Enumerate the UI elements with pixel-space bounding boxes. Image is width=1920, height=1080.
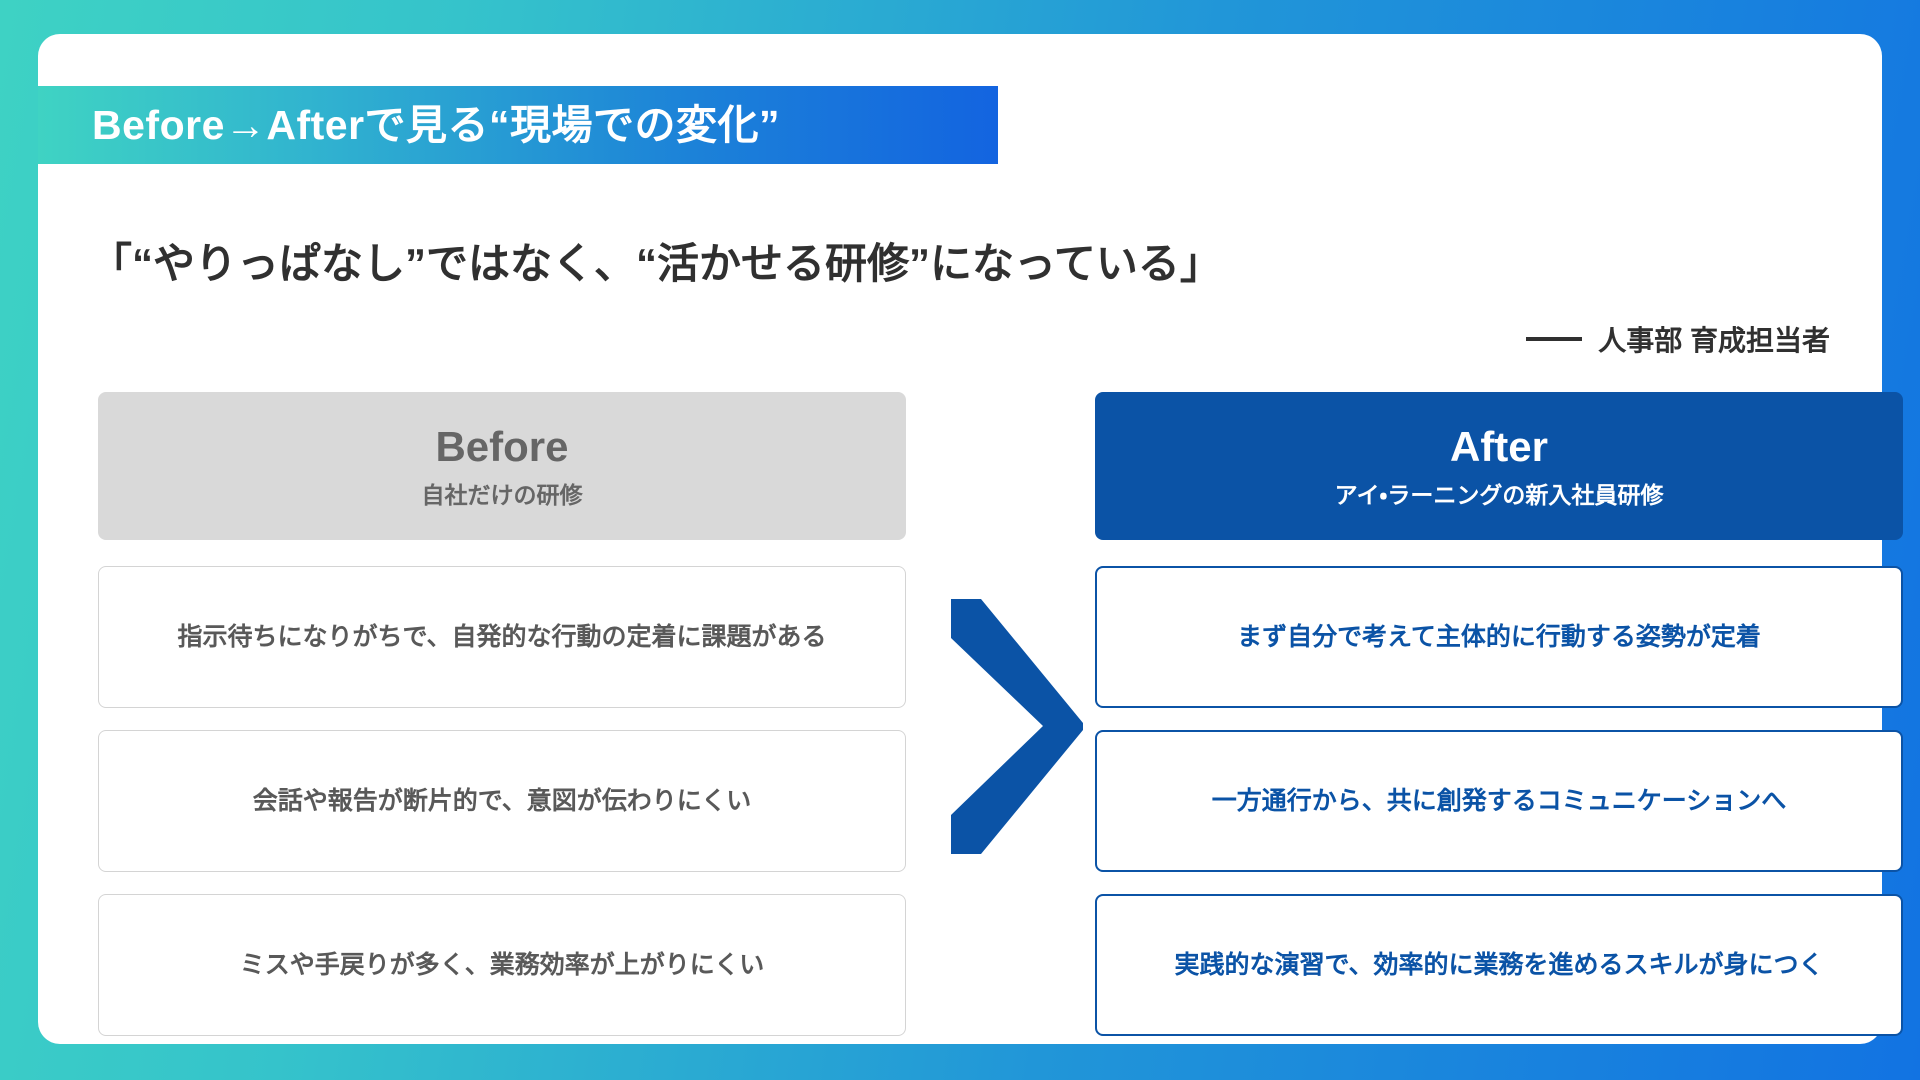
list-item: 指示待ちになりがちで、自発的な行動の定着に課題がある xyxy=(98,566,906,708)
quote-text: 「“やりっぱなし”ではなく、“活かせる研修”になっている」 xyxy=(90,239,1222,289)
list-item: ミスや手戻りが多く、業務効率が上がりにくい xyxy=(98,894,906,1036)
list-item: まず自分で考えて主体的に行動する姿勢が定着 xyxy=(1095,566,1903,708)
column-after-label: After xyxy=(1450,425,1548,469)
column-after-header: After アイ・ラーニングの新入社員研修 xyxy=(1095,392,1903,540)
column-after-items: まず自分で考えて主体的に行動する姿勢が定着 一方通行から、共に創発するコミュニケ… xyxy=(1095,566,1903,1036)
slide-card: Before→Afterで見る“現場での変化” 「“やりっぱなし”ではなく、“活… xyxy=(38,34,1882,1044)
chevron-right-icon xyxy=(943,599,1093,854)
column-before-label: Before xyxy=(435,425,568,469)
quote-attribution: 人事部 育成担当者 xyxy=(1526,319,1830,359)
column-before-items: 指示待ちになりがちで、自発的な行動の定着に課題がある 会話や報告が断片的で、意図… xyxy=(98,566,906,1036)
list-item: 一方通行から、共に創発するコミュニケーションへ xyxy=(1095,730,1903,872)
column-before: Before 自社だけの研修 指示待ちになりがちで、自発的な行動の定着に課題があ… xyxy=(98,392,906,1036)
title-banner: Before→Afterで見る“現場での変化” xyxy=(38,86,998,164)
column-after-subtitle: アイ・ラーニングの新入社員研修 xyxy=(1335,483,1664,507)
slide-background: Before→Afterで見る“現場での変化” 「“やりっぱなし”ではなく、“活… xyxy=(0,0,1920,1080)
column-after: After アイ・ラーニングの新入社員研修 まず自分で考えて主体的に行動する姿勢… xyxy=(1095,392,1903,1036)
column-before-header: Before 自社だけの研修 xyxy=(98,392,906,540)
attribution-label: 人事部 育成担当者 xyxy=(1598,319,1830,359)
attribution-dash-icon xyxy=(1526,337,1582,341)
list-item: 会話や報告が断片的で、意図が伝わりにくい xyxy=(98,730,906,872)
list-item: 実践的な演習で、効率的に業務を進めるスキルが身につく xyxy=(1095,894,1903,1036)
page-title: Before→Afterで見る“現場での変化” xyxy=(92,105,780,146)
column-before-subtitle: 自社だけの研修 xyxy=(422,483,583,507)
